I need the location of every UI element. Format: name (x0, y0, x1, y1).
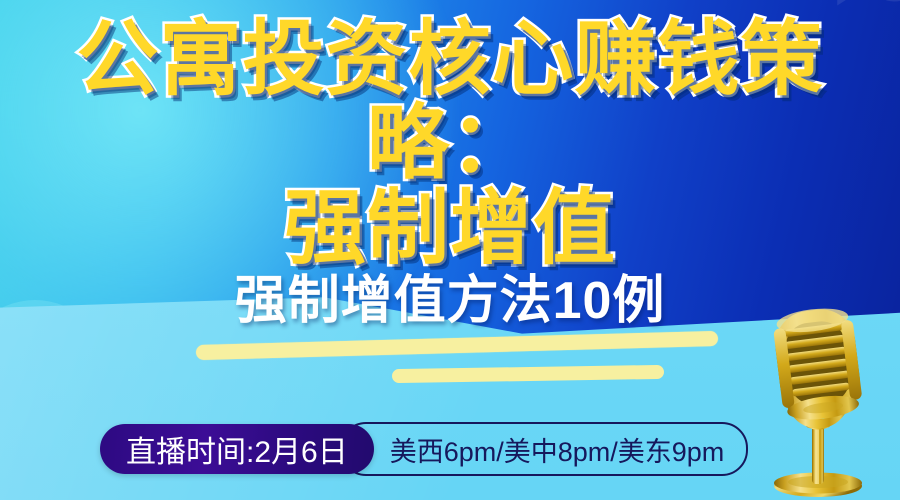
retro-microphone-icon (752, 300, 882, 500)
live-date-badge: 直播时间:2月6日 (100, 424, 374, 474)
promo-banner: OUR 公寓投资核心赚钱策略： 强制增值 强制增值方法10例 直播时间:2月6日… (0, 0, 900, 500)
timezone-badge: 美西6pm/美中8pm/美东9pm (340, 422, 749, 476)
footer-info-row: 直播时间:2月6日 美西6pm/美中8pm/美东9pm (100, 422, 748, 476)
page-title: 公寓投资核心赚钱策略： 强制增值 (0, 18, 900, 271)
title-line-1: 公寓投资核心赚钱策略： (0, 18, 900, 185)
